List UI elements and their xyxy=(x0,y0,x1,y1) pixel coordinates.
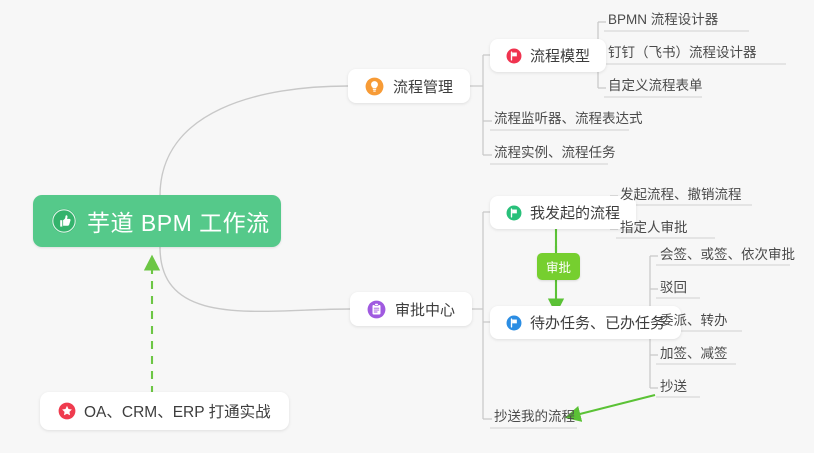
leaf-label: 自定义流程表单 xyxy=(608,79,703,93)
flag-red-icon xyxy=(506,48,522,64)
leaf-assignee-approval[interactable]: 指定人审批 xyxy=(616,219,692,239)
node-my-started-process[interactable]: 我发起的流程 xyxy=(490,196,636,229)
leaf-label: 发起流程、撤销流程 xyxy=(620,188,742,202)
leaf-label: 流程监听器、流程表达式 xyxy=(494,112,643,126)
leaf-label: 指定人审批 xyxy=(620,221,688,235)
clipboard-icon xyxy=(367,300,386,319)
branch-node-process-management[interactable]: 流程管理 xyxy=(348,69,470,103)
leaf-label: BPMN 流程设计器 xyxy=(608,13,718,27)
approval-tag-label: 审批 xyxy=(546,261,571,275)
leaf-label: 抄送我的流程 xyxy=(494,410,575,424)
leaf-label: 加签、减签 xyxy=(660,347,728,361)
leaf-instance-task[interactable]: 流程实例、流程任务 xyxy=(490,144,620,164)
leaf-reject[interactable]: 驳回 xyxy=(656,279,691,299)
approval-tag[interactable]: 审批 xyxy=(537,253,580,280)
thumbs-up-icon xyxy=(51,208,77,234)
branch-label-approval-center: 审批中心 xyxy=(395,299,455,320)
star-icon xyxy=(58,402,76,420)
node-label-todo-done-task: 待办任务、已办任务 xyxy=(530,312,665,333)
node-label-process-model: 流程模型 xyxy=(530,45,590,66)
flag-blue-icon xyxy=(506,315,522,331)
leaf-label: 驳回 xyxy=(660,281,687,295)
root-node[interactable]: 芋道 BPM 工作流 xyxy=(33,195,281,247)
leaf-listener-expression[interactable]: 流程监听器、流程表达式 xyxy=(490,110,647,130)
mindmap-canvas: 芋道 BPM 工作流 流程管理 流程模型 BPMN 流程设计器 钉钉（飞书 xyxy=(0,0,814,453)
footer-node-label: OA、CRM、ERP 打通实战 xyxy=(84,400,271,422)
leaf-label: 委派、转办 xyxy=(660,314,728,328)
leaf-custom-process-form[interactable]: 自定义流程表单 xyxy=(604,77,707,97)
leaf-cc-to-me-process[interactable]: 抄送我的流程 xyxy=(490,408,579,428)
leaf-delegate-transfer[interactable]: 委派、转办 xyxy=(656,312,732,332)
leaf-cc[interactable]: 抄送 xyxy=(656,378,691,398)
branch-label-process-management: 流程管理 xyxy=(393,76,453,97)
node-process-model[interactable]: 流程模型 xyxy=(490,39,606,72)
leaf-countersign[interactable]: 会签、或签、依次审批 xyxy=(656,246,799,266)
flag-green-icon xyxy=(506,205,522,221)
leaf-dingtalk-feishu-designer[interactable]: 钉钉（飞书）流程设计器 xyxy=(604,44,761,64)
footer-node-integration-practice[interactable]: OA、CRM、ERP 打通实战 xyxy=(40,392,289,430)
leaf-label: 会签、或签、依次审批 xyxy=(660,248,795,262)
leaf-label: 钉钉（飞书）流程设计器 xyxy=(608,46,757,60)
leaf-label: 流程实例、流程任务 xyxy=(494,146,616,160)
lightbulb-icon xyxy=(365,77,384,96)
node-label-my-started-process: 我发起的流程 xyxy=(530,202,620,223)
leaf-add-remove-sign[interactable]: 加签、减签 xyxy=(656,345,732,365)
leaf-bpmn-designer[interactable]: BPMN 流程设计器 xyxy=(604,11,722,31)
leaf-start-cancel-process[interactable]: 发起流程、撤销流程 xyxy=(616,186,746,206)
node-todo-done-task[interactable]: 待办任务、已办任务 xyxy=(490,306,681,339)
branch-node-approval-center[interactable]: 审批中心 xyxy=(350,292,472,326)
root-label: 芋道 BPM 工作流 xyxy=(87,204,270,238)
leaf-label: 抄送 xyxy=(660,380,687,394)
